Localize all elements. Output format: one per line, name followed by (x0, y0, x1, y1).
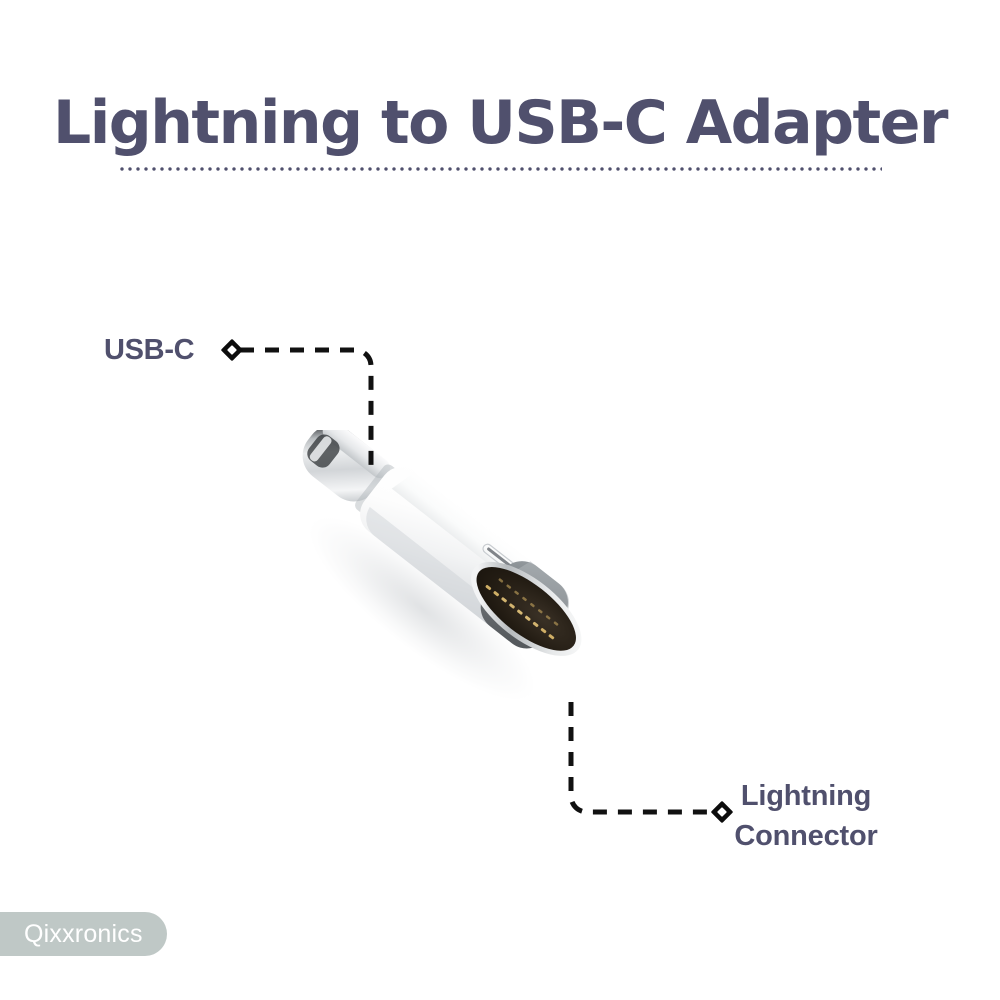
brand-badge: Qixxronics (0, 912, 167, 956)
title-block: Lightning to USB-C Adapter (0, 88, 1000, 158)
callout-label-usbc: USB-C (104, 333, 194, 367)
diamond-marker-icon-usbc (221, 339, 244, 362)
callout-label-lightning-line2: Connector (680, 816, 932, 856)
product-image (300, 430, 660, 730)
title-underline-divider (118, 166, 882, 172)
callout-label-lightning-line1: Lightning (680, 776, 932, 816)
page-title: Lightning to USB-C Adapter (0, 88, 1000, 158)
callout-label-lightning: Lightning Connector (680, 776, 932, 856)
infographic-canvas: Lightning to USB-C Adapter (0, 0, 1000, 1000)
